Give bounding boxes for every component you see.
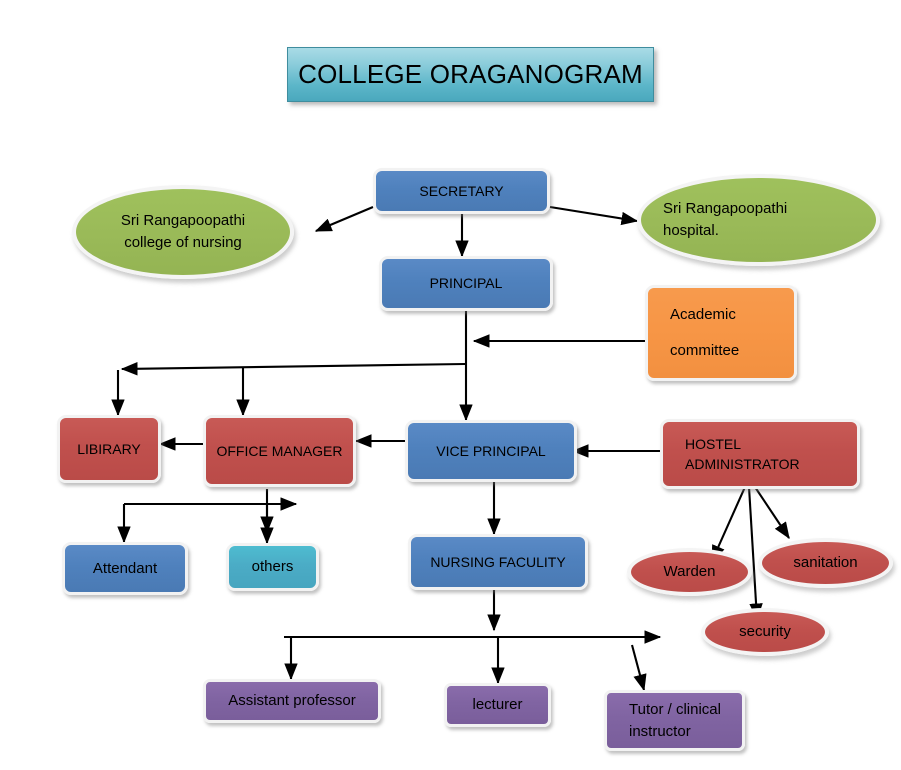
node-college-of-nursing[interactable]: Sri Rangapoopathi college of nursing [72, 185, 294, 279]
node-nursing-faculity-label: NURSING FACULITY [411, 552, 585, 572]
edge-secretary-to-college-of-nursing [316, 207, 373, 231]
page-title-text: COLLEGE ORAGANOGRAM [298, 59, 643, 90]
node-tutor-clinical-instructor[interactable]: Tutor / clinical instructor [604, 690, 745, 751]
node-lecturer-label: lecturer [447, 694, 548, 716]
node-academic-committee-label: Academic committee [648, 304, 794, 362]
node-hostel-administrator-line1: HOSTEL [685, 434, 851, 454]
node-principal[interactable]: PRINCIPAL [379, 256, 553, 311]
node-principal-label: PRINCIPAL [382, 273, 550, 293]
node-college-of-nursing-line2: college of nursing [82, 232, 284, 254]
node-security-label: security [705, 621, 825, 643]
node-hospital-line2: hospital. [663, 220, 870, 242]
node-libirary-label: LIBIRARY [60, 439, 158, 459]
node-tutor-clinical-instructor-line2: instructor [629, 721, 736, 743]
edge-hostel-to-sanitation [755, 487, 789, 538]
node-academic-committee-line2: committee [670, 340, 788, 362]
node-hostel-administrator-label: HOSTEL ADMINISTRATOR [663, 434, 857, 475]
node-libirary[interactable]: LIBIRARY [57, 415, 161, 483]
page-title-banner: COLLEGE ORAGANOGRAM [287, 47, 654, 102]
node-security[interactable]: security [701, 608, 829, 656]
node-others[interactable]: others [226, 543, 319, 591]
node-academic-committee[interactable]: Academic committee [645, 285, 797, 381]
node-college-of-nursing-label: Sri Rangapoopathi college of nursing [76, 210, 290, 254]
node-secretary[interactable]: SECRETARY [373, 168, 550, 214]
node-tutor-clinical-instructor-label: Tutor / clinical instructor [607, 699, 742, 743]
node-academic-committee-line1: Academic [670, 304, 788, 326]
node-vice-principal[interactable]: VICE PRINCIPAL [405, 420, 577, 482]
node-secretary-label: SECRETARY [376, 181, 547, 201]
edge-spine-distribution-bar [122, 364, 465, 369]
node-nursing-faculity[interactable]: NURSING FACULITY [408, 534, 588, 590]
node-assistant-professor-label: Assistant professor [206, 690, 378, 712]
node-attendant[interactable]: Attendant [62, 542, 188, 595]
node-warden-label: Warden [631, 561, 748, 583]
node-attendant-label: Attendant [65, 558, 185, 580]
edge-hostel-to-security [749, 487, 757, 619]
node-hostel-administrator[interactable]: HOSTEL ADMINISTRATOR [660, 419, 860, 489]
organogram-canvas: COLLEGE ORAGANOGRAM COLLEGE ORAGANOGRAM … [0, 0, 901, 770]
edge-bar-to-tutor [632, 645, 644, 690]
node-hostel-administrator-line2: ADMINISTRATOR [685, 454, 851, 474]
node-tutor-clinical-instructor-line1: Tutor / clinical [629, 699, 736, 721]
node-warden[interactable]: Warden [627, 548, 752, 596]
edge-secretary-to-hospital [550, 207, 637, 221]
node-vice-principal-label: VICE PRINCIPAL [408, 441, 574, 461]
node-lecturer[interactable]: lecturer [444, 683, 551, 727]
node-office-manager[interactable]: OFFICE MANAGER [203, 415, 356, 487]
node-hospital-line1: Sri Rangapoopathi [663, 198, 870, 220]
node-sanitation-label: sanitation [762, 552, 889, 574]
node-college-of-nursing-line1: Sri Rangapoopathi [82, 210, 284, 232]
node-others-label: others [229, 556, 316, 578]
node-hospital-label: Sri Rangapoopathi hospital. [641, 198, 876, 242]
node-sanitation[interactable]: sanitation [758, 538, 893, 588]
node-office-manager-label: OFFICE MANAGER [206, 441, 353, 461]
node-assistant-professor[interactable]: Assistant professor [203, 679, 381, 723]
node-hospital[interactable]: Sri Rangapoopathi hospital. [637, 174, 880, 266]
